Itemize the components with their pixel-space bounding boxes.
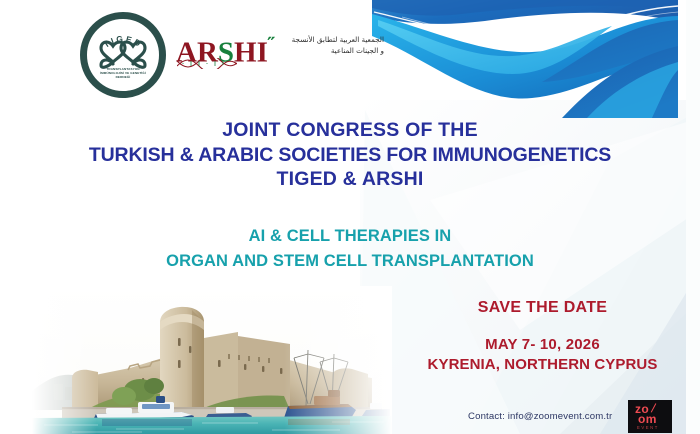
congress-title-line-2: TURKISH & ARABIC SOCIETIES FOR IMMUNOGEN… (0, 143, 700, 168)
arshi-part-h: H (234, 37, 257, 69)
arshi-tick-icon: ˝ (268, 34, 275, 56)
conference-poster: TIGED TRANSPLANTASYON İMMÜNOLOJİSİ VE GE… (0, 0, 700, 434)
tiged-logo-arc-text: TIGED (80, 12, 166, 98)
save-the-date-block: SAVE THE DATE MAY 7- 10, 2026 KYRENIA, N… (410, 298, 675, 375)
congress-title-line-3: TIGED & ARSHI (0, 167, 700, 192)
zoom-event-logo[interactable]: zo om EVENT (628, 400, 672, 433)
congress-theme-line-2: ORGAN AND STEM CELL TRANSPLANTATION (0, 249, 700, 274)
event-location: KYRENIA, NORTHERN CYPRUS (410, 355, 675, 375)
arabic-line-2: و الجينات المناعية (278, 45, 384, 56)
arshi-part-i: I (257, 37, 268, 69)
contact-info[interactable]: Contact: info@zoomevent.com.tr (468, 411, 612, 422)
arabic-society-name: الجمعية العربية لتطابق الأنسجة و الجينات… (278, 34, 384, 56)
congress-theme-line-1: AI & CELL THERAPIES IN (0, 224, 700, 249)
congress-theme: AI & CELL THERAPIES IN ORGAN AND STEM CE… (0, 224, 700, 274)
tiged-logo: TIGED TRANSPLANTASYON İMMÜNOLOJİSİ VE GE… (80, 12, 166, 98)
kyrenia-castle-photo (32, 286, 392, 434)
congress-title-line-1: JOINT CONGRESS OF THE (0, 118, 700, 143)
dna-helix-icon (177, 58, 237, 69)
save-the-date-heading: SAVE THE DATE (410, 298, 675, 318)
arshi-logo: ARSHI˝ (176, 30, 271, 74)
congress-title: JOINT CONGRESS OF THE TURKISH & ARABIC S… (0, 118, 700, 192)
arabic-line-1: الجمعية العربية لتطابق الأنسجة (278, 34, 384, 45)
zoom-logo-line-3: EVENT (637, 425, 659, 430)
wave-graphic (372, 0, 678, 118)
zoom-logo-line-2: om (638, 412, 657, 426)
tiged-logo-subtext: TRANSPLANTASYON İMMÜNOLOJİSİ VE GENETİĞİ… (94, 68, 152, 80)
event-date: MAY 7- 10, 2026 (410, 335, 675, 355)
